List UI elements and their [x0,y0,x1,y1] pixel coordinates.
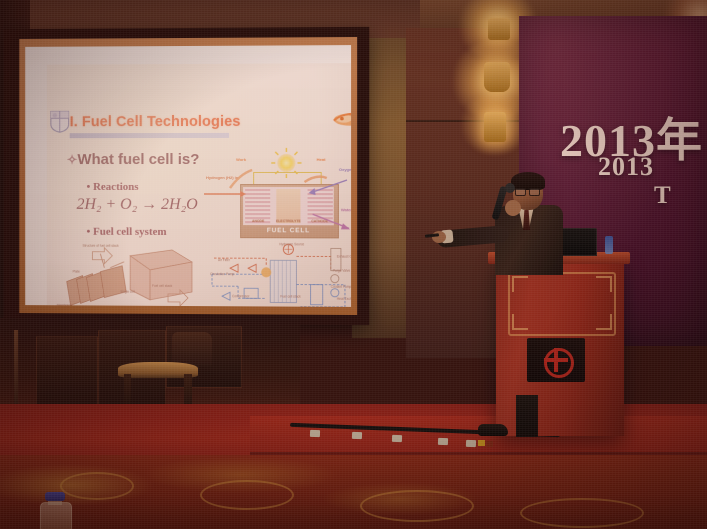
speaker-hand-holding-mic [505,200,521,216]
fuel-cell-stack-diagram [53,242,202,307]
heat-label: Heat [317,158,326,163]
train-logo [331,108,351,128]
podium-corner-ornament [596,314,612,330]
title-underline-rule [70,133,229,138]
cable-tape [392,435,402,442]
fuel-cell-flow-arrows [200,166,351,236]
podium-corner-ornament [512,276,528,292]
presentation-slide: I. Fuel Cell Technologies ✧What fuel cel… [25,45,351,307]
university-shield-logo [49,109,71,133]
work-label: Work [236,158,246,163]
air-filter-label: Air Filter [218,258,230,262]
sconce-body [484,112,506,142]
carpet-swirl [360,490,474,522]
sub-bullet-system: • Fuel cell system [86,226,166,238]
coolant-pump-label: Coolant Pump [331,285,351,289]
slide-title: I. Fuel Cell Technologies [70,114,241,130]
sconce-body [484,62,510,92]
exhaust-gas-label: Exhaust Gas [337,255,351,259]
carpet-swirl [520,498,644,528]
sub-bullet-reactions: • Reactions [86,181,138,193]
bottle-body [40,502,72,529]
speaker-leg [516,395,538,437]
reaction-equation: 2H₂ + O₂ → 2H₂O [77,196,198,214]
stack-structure-label: Structure of fuel cell stack [83,244,119,248]
hydrogen-source-label: Hydrogen Source [279,242,304,246]
podium-emblem-cross-horizontal [544,358,568,362]
plate-label: Plate [73,270,80,274]
podium-emblem-icon [544,348,574,378]
speaker-shoe [478,424,508,436]
foreground-water-bottle [38,492,72,529]
cable-tape [438,438,448,445]
conference-photo-scene: 2013年 2013 T I. Fuel Cell Technologies [0,0,707,529]
podium-corner-ornament [512,314,528,330]
chair-backrest [172,332,212,366]
banner-line-three: T [654,182,707,210]
diamond-bullet-icon: ✧ [67,152,78,167]
circulation-pump-label: Circulation Pump [210,272,234,276]
banner-subtitle-year: 2013 [598,152,707,182]
microphone-head [505,183,515,193]
stack-block-label: Fuel cell stack [280,294,300,298]
cable-marker-yellow [478,440,485,446]
cable-tape [310,430,320,437]
purge-valve-label: Purge Valve [333,269,350,273]
podium-corner-ornament [596,276,612,292]
equipment-case [36,336,98,412]
cable-tape [352,432,362,439]
slide-heading-text: What fuel cell is? [77,151,199,168]
sconce-body [488,18,510,40]
sub-bullet-system-label: Fuel cell system [93,226,167,238]
single-cell-label: Single cell [120,290,134,294]
bottle-cap [45,492,65,501]
carpet-swirl [200,480,294,510]
sub-bullet-reactions-label: Reactions [93,181,139,193]
cable-tape [466,440,476,447]
fuel-cell-stack-label: Fuel cell stack [152,284,172,288]
glasses-lens-left [515,188,526,196]
glasses-lens-right [529,188,540,196]
projection-screen: I. Fuel Cell Technologies ✧What fuel cel… [4,27,370,325]
slide-heading: ✧What fuel cell is? [67,151,200,168]
wall-sconce-light [470,98,520,168]
podium-water-bottle [605,236,613,254]
heat-exchanger-label: Heat Exchanger [337,297,351,301]
cable-marker-red [486,441,493,447]
compressor-label: Compressor [232,294,249,298]
